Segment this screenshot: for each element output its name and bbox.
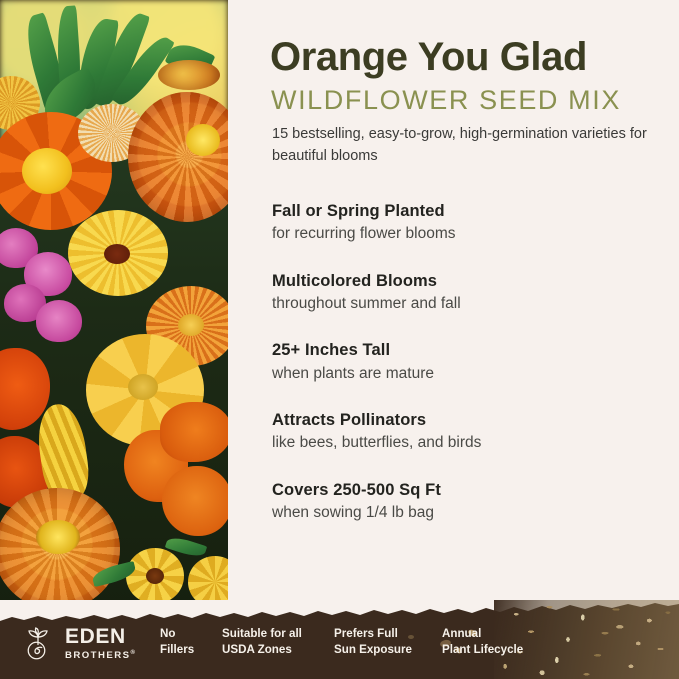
feature-item: Covers 250-500 Sq Ft when sowing 1/4 lb … — [272, 479, 662, 524]
footer-item-line1: Suitable for all — [222, 626, 302, 642]
product-details: Orange You Glad WILDFLOWER SEED MIX 15 b… — [228, 0, 679, 612]
footer-item-plant-lifecycle: Annual Plant Lifecycle — [442, 626, 523, 659]
footer-item-line1: Prefers Full — [334, 626, 412, 642]
product-infographic: Orange You Glad WILDFLOWER SEED MIX 15 b… — [0, 0, 679, 679]
feature-subtext: for recurring flower blooms — [272, 223, 662, 244]
footer-item-line2: Plant Lifecycle — [442, 642, 523, 658]
feature-heading: Fall or Spring Planted — [272, 200, 662, 222]
feature-subtext: when plants are mature — [272, 363, 662, 384]
footer-item-line1: No — [160, 626, 194, 642]
feature-item: Attracts Pollinators like bees, butterfl… — [272, 409, 662, 454]
flower-bloom — [162, 466, 228, 536]
flower-bloom — [158, 60, 220, 90]
flower-photo — [0, 0, 228, 612]
flower-bloom — [36, 300, 82, 342]
flower-center — [104, 244, 130, 264]
brand-logo: EDEN BROTHERS® — [20, 625, 136, 661]
feature-item: 25+ Inches Tall when plants are mature — [272, 339, 662, 384]
feature-heading: Multicolored Blooms — [272, 270, 662, 292]
footer-item-line2: Sun Exposure — [334, 642, 412, 658]
feature-item: Fall or Spring Planted for recurring flo… — [272, 200, 662, 245]
feature-subtext: when sowing 1/4 lb bag — [272, 502, 662, 523]
flower-bloom — [160, 402, 228, 462]
flower-center — [128, 374, 158, 400]
sprout-logo-icon — [20, 625, 56, 661]
feature-heading: 25+ Inches Tall — [272, 339, 662, 361]
flower-center — [22, 148, 72, 194]
flower-center — [36, 520, 80, 554]
footer-item-line2: Fillers — [160, 642, 194, 658]
flower-center — [186, 124, 220, 156]
footer-item-sun-exposure: Prefers Full Sun Exposure — [334, 626, 412, 659]
footer-item-line1: Annual — [442, 626, 523, 642]
feature-subtext: throughout summer and fall — [272, 293, 662, 314]
footer-item-line2: USDA Zones — [222, 642, 302, 658]
flower-center — [146, 568, 164, 584]
feature-heading: Attracts Pollinators — [272, 409, 662, 431]
feature-subtext: like bees, butterflies, and birds — [272, 432, 662, 453]
footer-item-no-fillers: No Fillers — [160, 626, 194, 659]
product-subtitle: WILDFLOWER SEED MIX — [271, 86, 621, 116]
brand-wordmark: EDEN BROTHERS® — [65, 626, 136, 661]
brand-name-bottom: BROTHERS® — [65, 650, 136, 661]
footer-item-usda-zones: Suitable for all USDA Zones — [222, 626, 302, 659]
brand-name-top: EDEN — [65, 626, 136, 647]
flower-center — [178, 314, 204, 336]
product-title: Orange You Glad — [270, 36, 587, 78]
feature-heading: Covers 250-500 Sq Ft — [272, 479, 662, 501]
feature-item: Multicolored Blooms throughout summer an… — [272, 270, 662, 315]
feature-list: Fall or Spring Planted for recurring flo… — [272, 200, 662, 548]
product-description: 15 bestselling, easy-to-grow, high-germi… — [272, 124, 652, 168]
registered-mark: ® — [130, 650, 136, 656]
